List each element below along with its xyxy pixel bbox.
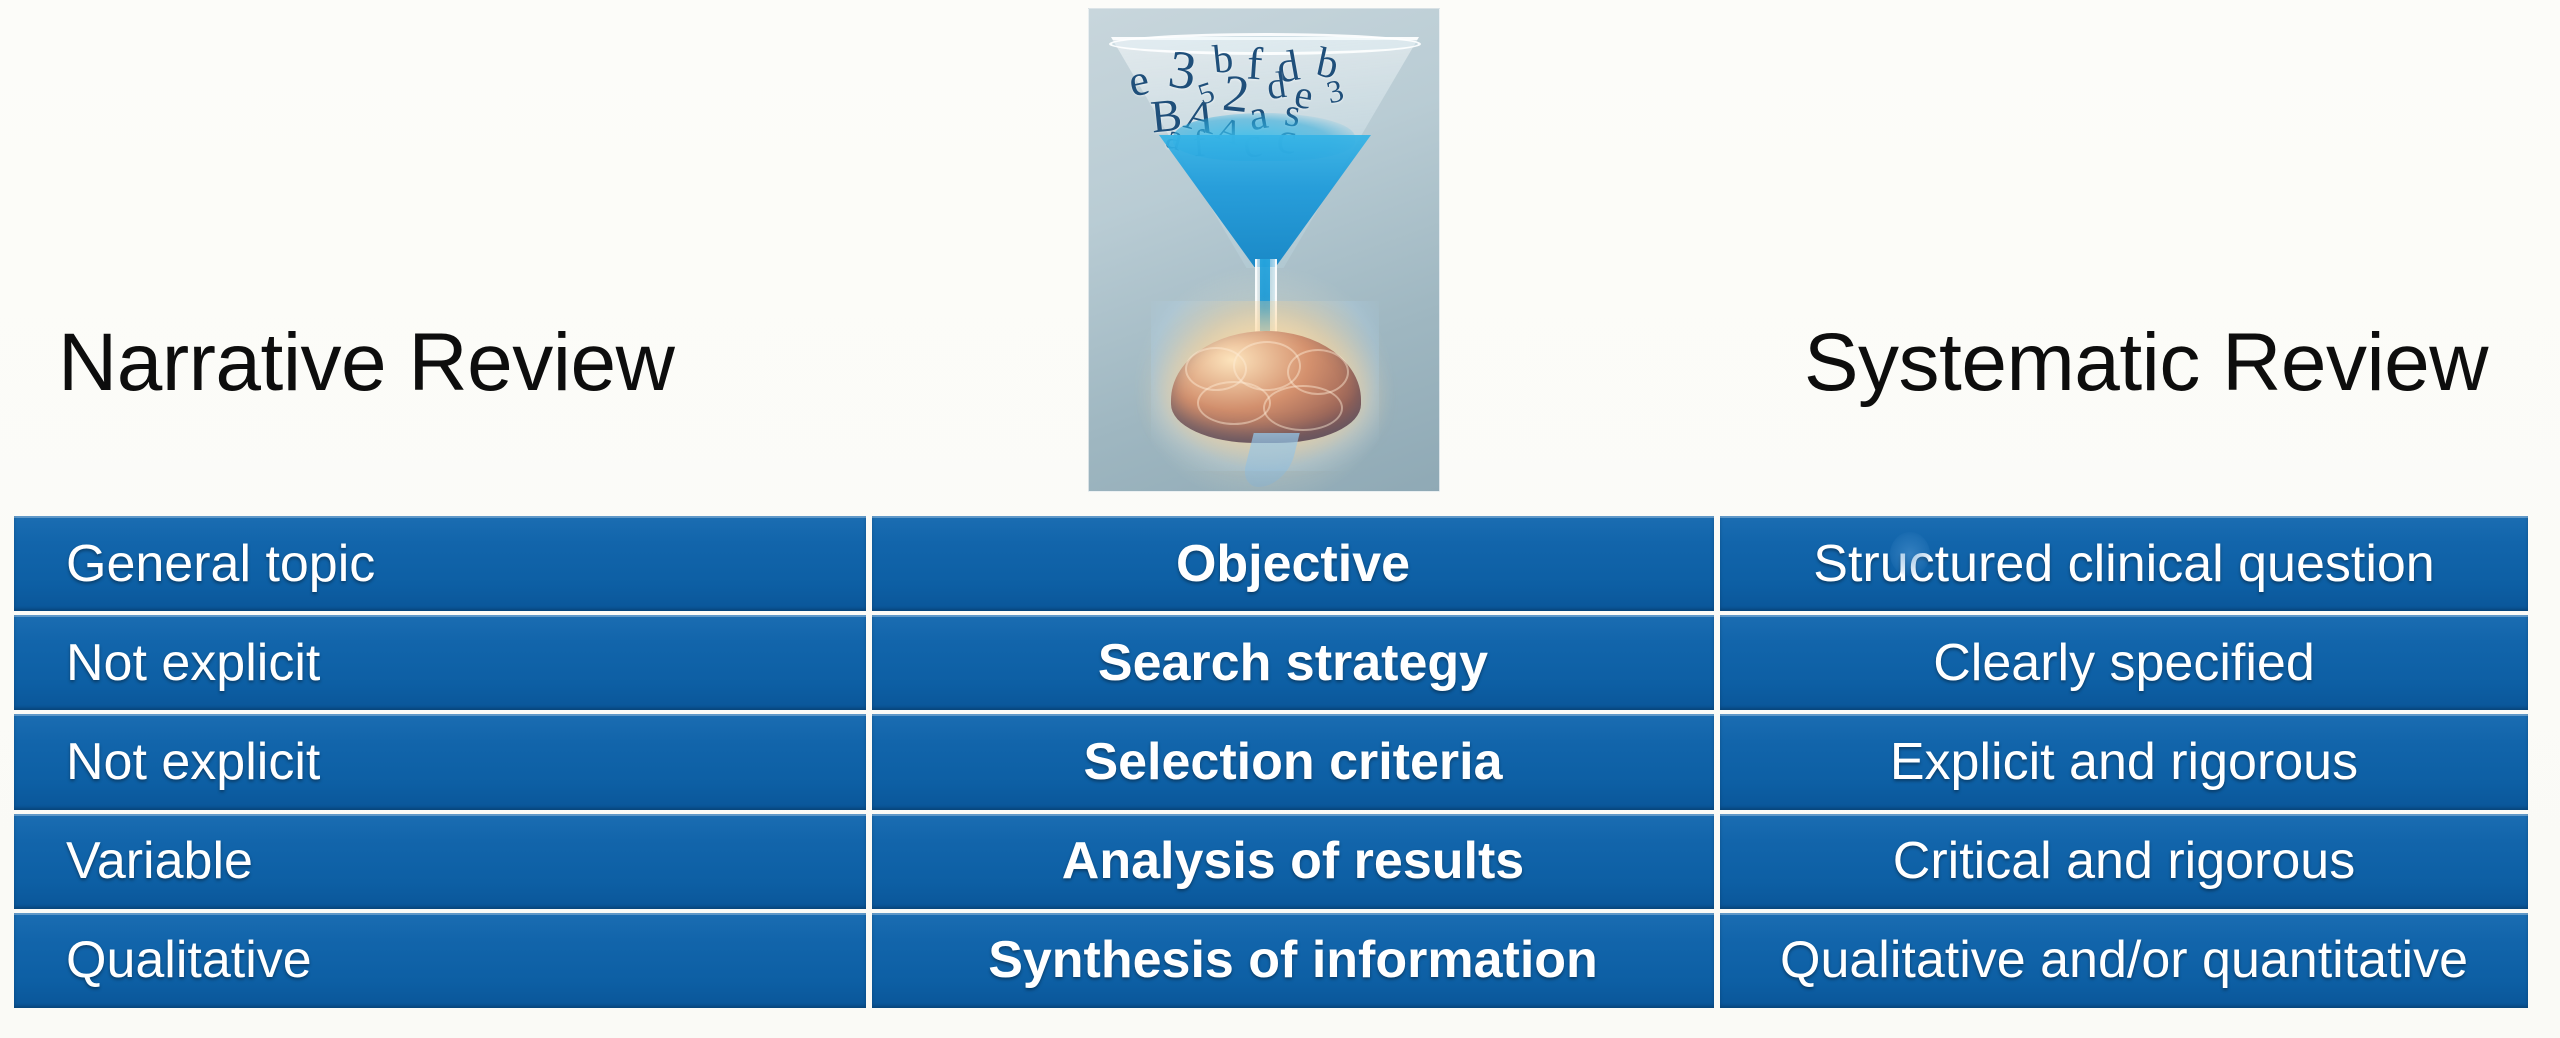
cell-criterion: Search strategy <box>872 615 1714 710</box>
cell-criterion: Selection criteria <box>872 714 1714 809</box>
cell-systematic-review: Critical and rigorous <box>1720 814 2528 909</box>
cell-systematic-review: Clearly specified <box>1720 615 2528 710</box>
cell-criterion: Synthesis of information <box>872 913 1714 1008</box>
table-row: Qualitative Synthesis of information Qua… <box>14 913 2528 1008</box>
cell-systematic-review: Explicit and rigorous <box>1720 714 2528 809</box>
slide-canvas: Narrative Review Systematic Review e 3 b… <box>0 0 2560 1038</box>
table-row: Variable Analysis of results Critical an… <box>14 814 2528 909</box>
cell-narrative-review: Variable <box>14 814 866 909</box>
cell-systematic-review: Qualitative and/or quantitative <box>1720 913 2528 1008</box>
table-row: General topic Objective Structured clini… <box>14 516 2528 611</box>
cell-narrative-review: Not explicit <box>14 714 866 809</box>
page-title-systematic-review: Systematic Review <box>1804 322 2488 404</box>
comparison-table: General topic Objective Structured clini… <box>14 516 2528 1008</box>
cell-systematic-review-text: Structured clinical question <box>1813 538 2434 590</box>
funnel-liquid <box>1159 135 1371 267</box>
funnel-rim-icon <box>1109 33 1421 55</box>
cell-criterion: Objective <box>872 516 1714 611</box>
cell-narrative-review: Not explicit <box>14 615 866 710</box>
funnel-brain-illustration: e 3 b f d b 5 2 d e 3 B A a s a f A c c <box>1088 8 1440 492</box>
cell-systematic-review: Structured clinical question <box>1720 516 2528 611</box>
table-row: Not explicit Search strategy Clearly spe… <box>14 615 2528 710</box>
cell-narrative-review: General topic <box>14 516 866 611</box>
cell-narrative-review: Qualitative <box>14 913 866 1008</box>
table-row: Not explicit Selection criteria Explicit… <box>14 714 2528 809</box>
page-title-narrative-review: Narrative Review <box>58 322 674 404</box>
cell-criterion: Analysis of results <box>872 814 1714 909</box>
